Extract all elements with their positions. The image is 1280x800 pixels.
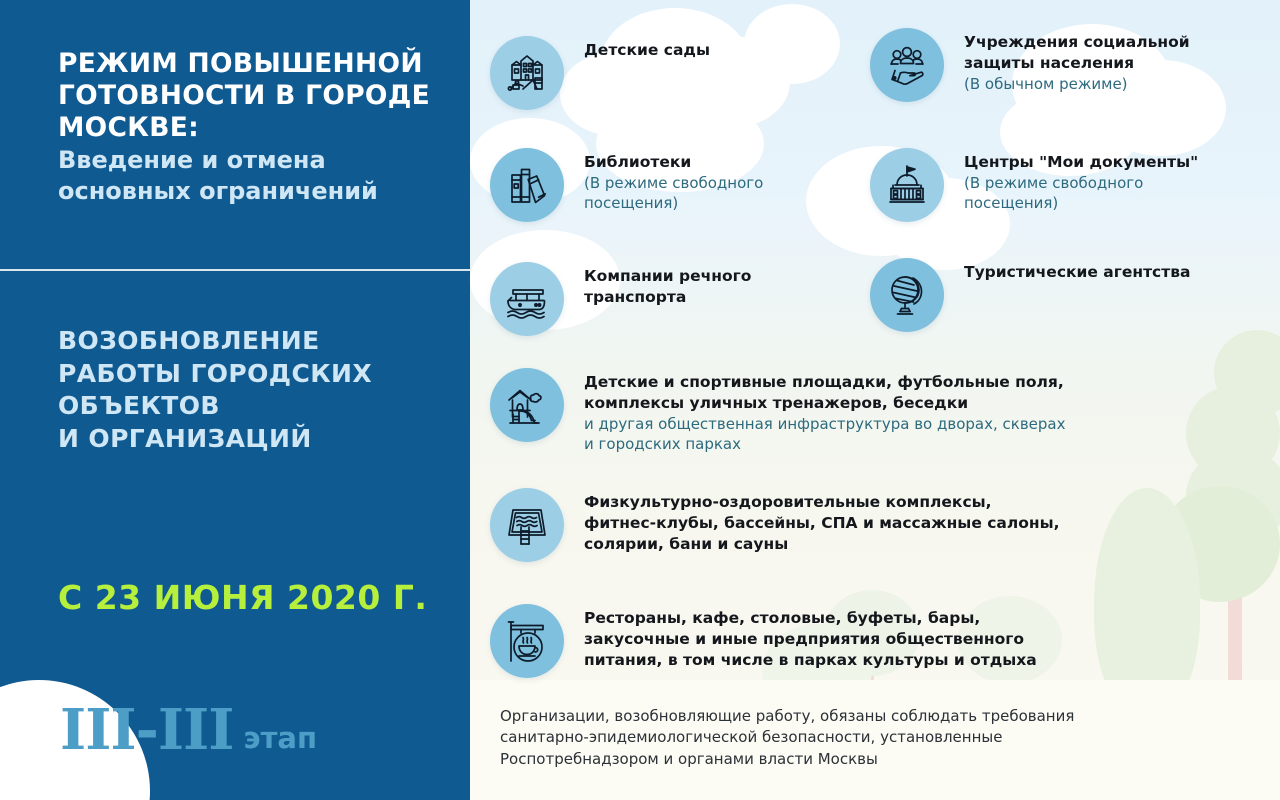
section-heading-line-3: ОБЪЕКТОВ bbox=[58, 390, 448, 423]
item-headline: Туристические агентства bbox=[964, 262, 1191, 283]
item-text: Детские и спортивные площадки, футбольны… bbox=[584, 368, 1066, 454]
item-headline: Компании речного bbox=[584, 266, 751, 287]
item-headline: Физкультурно-оздоровительные комплексы, bbox=[584, 492, 1060, 513]
river-boat-icon bbox=[490, 262, 564, 336]
item-headline: солярии, бани и сауны bbox=[584, 534, 1060, 555]
item-note: посещения) bbox=[964, 193, 1198, 213]
item-headline: защиты населения bbox=[964, 53, 1190, 74]
list-item[interactable]: Рестораны, кафе, столовые, буфеты, бары,… bbox=[490, 604, 1037, 678]
list-item[interactable]: Туристические агентства bbox=[870, 258, 1191, 332]
item-note: (В режиме свободного bbox=[584, 173, 763, 193]
footer-line-1: Организации, возобновляющие работу, обяз… bbox=[500, 706, 1200, 727]
item-text: Туристические агентства bbox=[964, 258, 1191, 283]
item-note: (В обычном режиме) bbox=[964, 74, 1190, 94]
item-headline: транспорта bbox=[584, 287, 751, 308]
section-heading-block: ВОЗОБНОВЛЕНИЕ РАБОТЫ ГОРОДСКИХ ОБЪЕКТОВ … bbox=[58, 325, 448, 455]
item-headline: Детские сады bbox=[584, 40, 710, 61]
government-building-icon bbox=[870, 148, 944, 222]
title-line-2: ГОТОВНОСТИ В ГОРОДЕ bbox=[58, 80, 438, 112]
item-note: (В режиме свободного bbox=[964, 173, 1198, 193]
item-note: и другая общественная инфраструктура во … bbox=[584, 414, 1066, 434]
books-icon bbox=[490, 148, 564, 222]
item-headline: Учреждения социальной bbox=[964, 32, 1190, 53]
list-item[interactable]: Физкультурно-оздоровительные комплексы, … bbox=[490, 488, 1060, 562]
item-text: Учреждения социальной защиты населения (… bbox=[964, 28, 1190, 94]
item-text: Библиотеки (В режиме свободного посещени… bbox=[584, 148, 763, 213]
swimming-pool-icon bbox=[490, 488, 564, 562]
effective-date: С 23 ИЮНЯ 2020 Г. bbox=[58, 578, 427, 617]
list-item[interactable]: Центры "Мои документы" (В режиме свободн… bbox=[870, 148, 1198, 222]
playground-slide-icon bbox=[490, 368, 564, 442]
list-item[interactable]: Библиотеки (В режиме свободного посещени… bbox=[490, 148, 763, 222]
item-text: Компании речного транспорта bbox=[584, 262, 751, 308]
item-note: посещения) bbox=[584, 193, 763, 213]
item-headline: Центры "Мои документы" bbox=[964, 152, 1198, 173]
item-headline: фитнес-клубы, бассейны, СПА и массажные … bbox=[584, 513, 1060, 534]
footer-line-2: санитарно-эпидемиологической безопасност… bbox=[500, 727, 1200, 748]
item-headline: питания, в том числе в парках культуры и… bbox=[584, 650, 1037, 671]
cafe-sign-icon bbox=[490, 604, 564, 678]
title-line-3: МОСКВЕ: bbox=[58, 112, 438, 144]
item-headline: закусочные и иные предприятия общественн… bbox=[584, 629, 1037, 650]
logo-word-label: этап bbox=[243, 724, 317, 758]
footer-line-3: Роспотребнадзором и органами власти Моск… bbox=[500, 749, 1200, 770]
poster-title-block: РЕЖИМ ПОВЫШЕННОЙ ГОТОВНОСТИ В ГОРОДЕ МОС… bbox=[58, 48, 438, 206]
logo-roman-numerals: III-III bbox=[60, 702, 233, 758]
sanitary-requirements-note: Организации, возобновляющие работу, обяз… bbox=[500, 706, 1200, 770]
list-item[interactable]: Компании речного транспорта bbox=[490, 262, 751, 336]
infographic-poster: РЕЖИМ ПОВЫШЕННОЙ ГОТОВНОСТИ В ГОРОДЕ МОС… bbox=[0, 0, 1280, 800]
section-heading-line-2: РАБОТЫ ГОРОДСКИХ bbox=[58, 358, 448, 391]
title-line-1: РЕЖИМ ПОВЫШЕННОЙ bbox=[58, 48, 438, 80]
subtitle-line-2: основных ограничений bbox=[58, 176, 438, 206]
resumed-services-list: Детские сады bbox=[470, 0, 1280, 800]
item-headline: комплексы уличных тренажеров, беседки bbox=[584, 393, 1066, 414]
panel-divider-line bbox=[0, 269, 458, 271]
panel-right-edge bbox=[458, 0, 470, 800]
item-text: Центры "Мои документы" (В режиме свободн… bbox=[964, 148, 1198, 213]
subtitle-line-1: Введение и отмена bbox=[58, 145, 438, 175]
item-text: Физкультурно-оздоровительные комплексы, … bbox=[584, 488, 1060, 554]
list-item[interactable]: Учреждения социальной защиты населения (… bbox=[870, 28, 1190, 102]
stage-logo: III-III этап bbox=[60, 702, 317, 758]
social-protection-icon bbox=[870, 28, 944, 102]
item-headline: Детские и спортивные площадки, футбольны… bbox=[584, 372, 1066, 393]
globe-icon bbox=[870, 258, 944, 332]
item-text: Рестораны, кафе, столовые, буфеты, бары,… bbox=[584, 604, 1037, 670]
item-note: и городских парках bbox=[584, 434, 1066, 454]
section-heading-line-1: ВОЗОБНОВЛЕНИЕ bbox=[58, 325, 448, 358]
item-headline: Библиотеки bbox=[584, 152, 763, 173]
list-item[interactable]: Детские и спортивные площадки, футбольны… bbox=[490, 368, 1066, 454]
list-item[interactable]: Детские сады bbox=[490, 36, 710, 110]
item-headline: Рестораны, кафе, столовые, буфеты, бары, bbox=[584, 608, 1037, 629]
section-heading-line-4: И ОРГАНИЗАЦИЙ bbox=[58, 423, 448, 456]
item-text: Детские сады bbox=[584, 36, 710, 61]
panel-edge-divider bbox=[458, 269, 470, 271]
kindergarten-icon bbox=[490, 36, 564, 110]
